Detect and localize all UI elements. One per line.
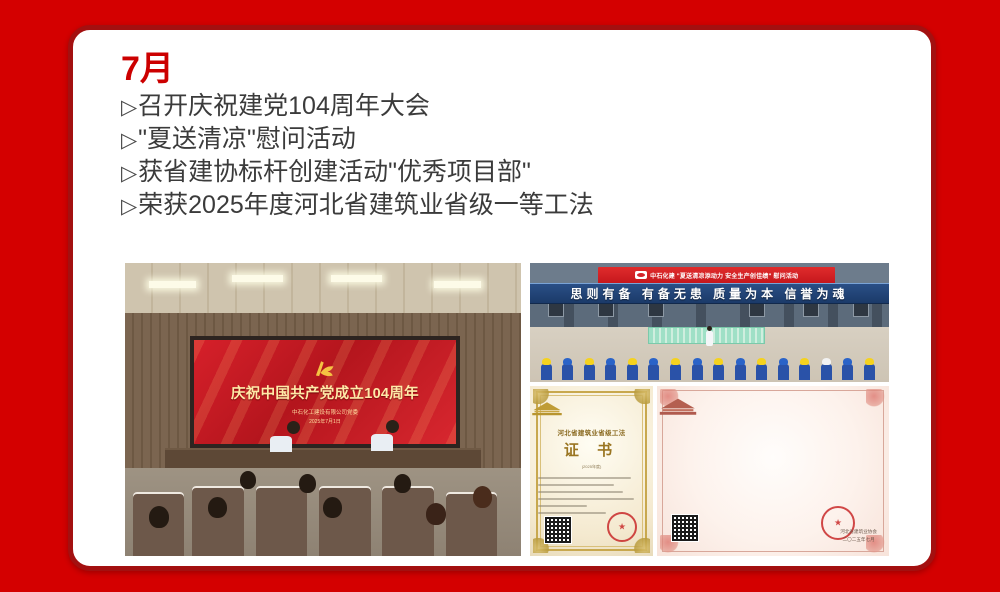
audience-head [323, 497, 342, 518]
worker [605, 364, 616, 380]
ornament-icon [866, 389, 886, 407]
worker [541, 364, 552, 380]
qr-code-icon [671, 514, 699, 542]
card-inner: 7月 ▷ 召开庆祝建党104周年大会 ▷ "夏送清凉"慰问活动 ▷ 获省建协标杆… [73, 30, 931, 566]
conference-room-scene: 庆祝中国共产党成立104周年 中石化工建设有限公司党委 2025年7月1日 [125, 263, 521, 556]
screen-title: 庆祝中国共产党成立104周年 [231, 382, 419, 403]
seat [256, 486, 307, 556]
bullet-triangle-icon: ▷ [121, 127, 137, 155]
photo-certificate-project: 项目部名称：120万吨/年乙烯工程及下游高端新材料项目配套石油油罐区改造项目新油… [657, 386, 889, 556]
sinopec-logo-icon [635, 271, 647, 279]
photo-certificate-gongfa: 河北省建筑业省级工法 证 书 (2025年度) [530, 386, 653, 556]
construction-site-scene: 中石化建 "夏送清凉添动力 安全生产创佳绩" 慰问活动 思则有备 有备无患 质量… [530, 263, 889, 382]
certificate-issuer: 河北省建筑业协会 二〇二五年七月 [840, 528, 877, 544]
list-item-label: "夏送清凉"慰问活动 [138, 123, 356, 156]
bullet-triangle-icon: ▷ [121, 94, 137, 122]
page-title: 7月 [121, 52, 907, 88]
led-screen: 庆祝中国共产党成立104周年 中石化工建设有限公司党委 2025年7月1日 [190, 336, 459, 447]
worker [713, 364, 724, 380]
ceiling-light [149, 281, 197, 288]
speaker-body [371, 434, 393, 451]
gate-emblem-icon [657, 396, 699, 418]
list-item: ▷ 荣获2025年度河北省建筑业省级一等工法 [121, 189, 907, 222]
list-item-label: 召开庆祝建党104周年大会 [138, 90, 430, 123]
bullet-triangle-icon: ▷ [121, 160, 137, 188]
right-photo-column: 中石化建 "夏送清凉添动力 安全生产创佳绩" 慰问活动 思则有备 有备无患 质量… [530, 263, 889, 556]
certificate-body-lines [538, 477, 647, 514]
worker [842, 364, 853, 380]
audience-head [426, 503, 446, 525]
certificate-row: 河北省建筑业省级工法 证 书 (2025年度) [530, 386, 889, 556]
audience-head [473, 486, 492, 508]
seat [319, 486, 370, 556]
list-item-label: 获省建协标杆创建活动"优秀项目部" [138, 156, 531, 189]
list-item: ▷ "夏送清凉"慰问活动 [121, 123, 907, 156]
audience-head [240, 471, 256, 489]
audience-head [394, 474, 411, 493]
audience-head [208, 497, 227, 518]
list-item-label: 荣获2025年度河北省建筑业省级一等工法 [138, 189, 594, 222]
party-emblem-icon [312, 358, 338, 380]
blue-slogan-banner: 思则有备 有备无患 质量为本 信誉为魂 [530, 283, 889, 304]
issuer-date: 二〇二五年七月 [840, 536, 877, 544]
list-item: ▷ 召开庆祝建党104周年大会 [121, 90, 907, 123]
screen-date: 2025年7月1日 [309, 418, 341, 425]
worker [799, 364, 810, 380]
certificate-year: (2025年度) [530, 464, 653, 470]
worker [627, 364, 638, 380]
blue-banner-text: 思则有备 有备无患 质量为本 信誉为魂 [570, 285, 848, 302]
seat [382, 486, 433, 556]
red-banner-text: 中石化建 "夏送清凉添动力 安全生产创佳绩" 慰问活动 [650, 271, 798, 280]
worker [584, 364, 595, 380]
achievement-list: ▷ 召开庆祝建党104周年大会 ▷ "夏送清凉"慰问活动 ▷ 获省建协标杆创建活… [121, 90, 907, 222]
certificate-heading: 证 书 [530, 439, 653, 460]
worker [648, 364, 659, 380]
photo-conference: 庆祝中国共产党成立104周年 中石化工建设有限公司党委 2025年7月1日 [125, 263, 521, 556]
screen-subtitle: 中石化工建设有限公司党委 [292, 408, 358, 416]
worker [670, 364, 681, 380]
worker [756, 364, 767, 380]
audience-head [299, 474, 316, 493]
worker [562, 364, 573, 380]
standing-speaker [706, 331, 713, 346]
ceiling [125, 263, 521, 313]
ceiling-light [434, 281, 482, 288]
ceiling-light [232, 275, 283, 282]
worker [821, 364, 832, 380]
worker [735, 364, 746, 380]
issuer-name: 河北省建筑业协会 [840, 528, 877, 536]
ornament-icon [633, 538, 650, 553]
list-item: ▷ 获省建协标杆创建活动"优秀项目部" [121, 156, 907, 189]
worker [864, 364, 875, 380]
certificate-title: 河北省建筑业省级工法 [530, 427, 653, 437]
content-card: 7月 ▷ 召开庆祝建党104周年大会 ▷ "夏送清凉"慰问活动 ▷ 获省建协标杆… [68, 25, 936, 571]
bullet-triangle-icon: ▷ [121, 193, 137, 221]
seat [192, 486, 243, 556]
ceiling-light [331, 275, 382, 282]
speaker-body [270, 436, 292, 452]
qr-code-icon [544, 516, 572, 544]
gate-emblem-icon [530, 400, 564, 418]
podium-desk [165, 448, 482, 471]
worker [692, 364, 703, 380]
worker [778, 364, 789, 380]
slide-canvas: 7月 ▷ 召开庆祝建党104周年大会 ▷ "夏送清凉"慰问活动 ▷ 获省建协标杆… [0, 0, 1000, 592]
photo-summer-relief: 中石化建 "夏送清凉添动力 安全生产创佳绩" 慰问活动 思则有备 有备无患 质量… [530, 263, 889, 382]
official-seal-icon [607, 512, 637, 542]
photo-collage: 庆祝中国共产党成立104周年 中石化工建设有限公司党委 2025年7月1日 [125, 263, 889, 556]
audience-head [149, 506, 169, 528]
red-event-banner: 中石化建 "夏送清凉添动力 安全生产创佳绩" 慰问活动 [598, 267, 835, 285]
